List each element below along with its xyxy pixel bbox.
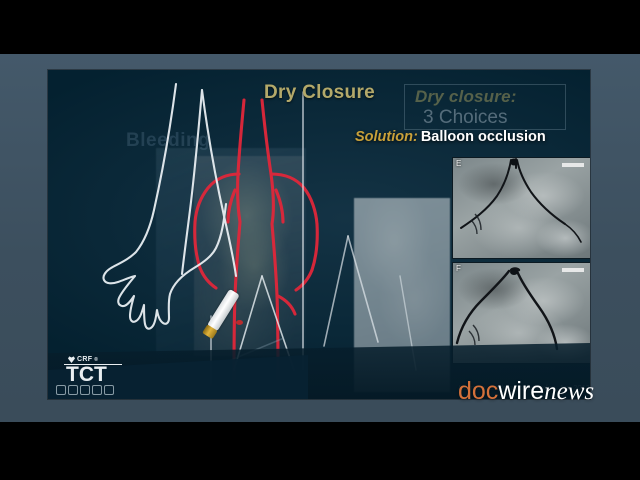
heart-icon [68, 356, 75, 363]
video-frame: Dry closure: 3 Choices Bleeding Dry Clos… [0, 54, 640, 422]
logo-icon-row [56, 385, 134, 395]
comment-icon [92, 385, 102, 395]
angiogram-f-label: F [456, 264, 461, 273]
presentation-slide: Dry closure: 3 Choices Bleeding Dry Clos… [48, 70, 590, 399]
docwirenews-watermark: docwirenews [458, 378, 594, 405]
docwire-doc: doc [458, 377, 498, 405]
ghost-text-box: Dry closure: 3 Choices [404, 84, 566, 130]
registered-icon: ® [94, 357, 98, 363]
pencil-icon [68, 385, 78, 395]
tct-crf-logo: CRF ® TCT [56, 356, 134, 395]
solution-label: Solution: [355, 129, 418, 145]
ghost-line-2: 3 Choices [423, 107, 508, 129]
letterbox-bottom [0, 422, 640, 480]
ghost-line-1: Dry closure: [415, 87, 517, 107]
angiogram-panel-e: E [452, 157, 590, 259]
angiogram-e-label: E [456, 159, 461, 168]
docwire-wire: wire [498, 377, 544, 405]
ghost-word-bleeding: Bleeding [126, 130, 210, 152]
angiogram-f-scale-bar [562, 268, 584, 272]
solution-line: Solution:Balloon occlusion [355, 129, 546, 145]
slide-title: Dry Closure [264, 82, 375, 104]
puncture-site-marker [236, 320, 243, 325]
docwire-news: news [544, 378, 594, 405]
crf-label: CRF [77, 356, 92, 363]
crf-logotype: CRF ® [68, 356, 134, 363]
tct-wordmark: TCT [66, 365, 134, 384]
video-player-screen: Dry closure: 3 Choices Bleeding Dry Clos… [0, 0, 640, 480]
image-icon [80, 385, 90, 395]
letterbox-top [0, 0, 640, 54]
share-icon [104, 385, 114, 395]
angiogram-e-catheter-overlay [453, 158, 590, 258]
angiogram-e-scale-bar [562, 163, 584, 167]
solution-value: Balloon occlusion [421, 129, 546, 145]
plus-icon [56, 385, 66, 395]
